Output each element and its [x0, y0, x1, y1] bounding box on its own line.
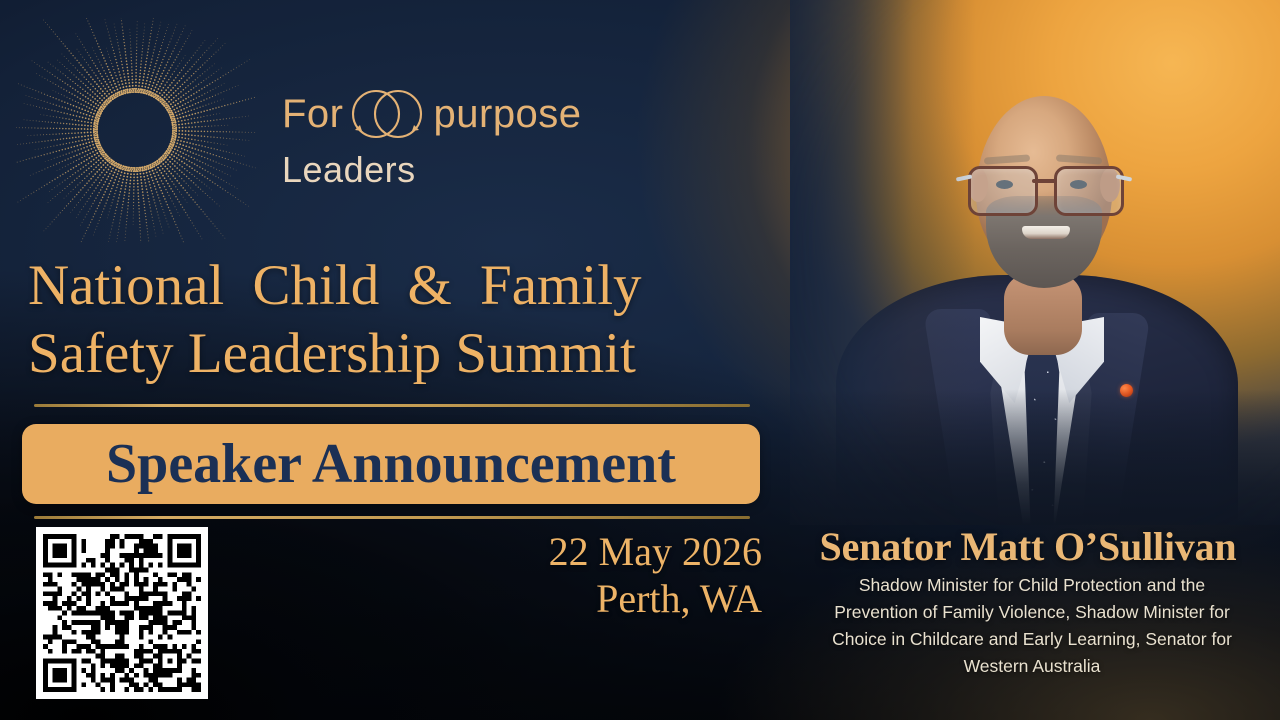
headline-line-2: Safety Leadership Summit — [28, 320, 768, 388]
portrait-eyeglasses — [962, 166, 1128, 212]
eyeglass-lens-left — [968, 166, 1038, 216]
speaker-announcement-poster: For purpose Leaders National Child & Fam… — [0, 0, 1280, 720]
event-location: Perth, WA — [380, 575, 762, 622]
dotted-sunburst-logo — [16, 18, 256, 243]
wordmark-for: For — [282, 94, 344, 134]
divider-rule-top — [34, 404, 750, 407]
speaker-role: Shadow Minister for Child Protection and… — [806, 572, 1258, 681]
wordmark-leaders: Leaders — [282, 149, 582, 191]
speaker-role-line-1: Shadow Minister for Child Protection and… — [806, 572, 1258, 599]
speaker-announcement-banner: Speaker Announcement — [22, 424, 760, 504]
speaker-role-line-3: Choice in Childcare and Early Learning, … — [806, 626, 1258, 653]
divider-rule-bottom — [34, 516, 750, 519]
speaker-role-line-2: Prevention of Family Violence, Shadow Mi… — [806, 599, 1258, 626]
eyeglass-bridge — [1032, 179, 1056, 183]
wordmark-purpose: purpose — [434, 94, 582, 134]
portrait-mouth — [1022, 226, 1070, 239]
speaker-announcement-label: Speaker Announcement — [106, 436, 676, 492]
event-date: 22 May 2026 — [380, 528, 762, 575]
qr-code[interactable] — [36, 527, 208, 699]
event-date-location: 22 May 2026 Perth, WA — [380, 528, 762, 622]
two-overlapping-circles-icon — [346, 85, 428, 143]
headline-line-1: National Child & Family — [28, 252, 768, 320]
eyeglass-lens-right — [1054, 166, 1124, 216]
brand-wordmark: For purpose Leaders — [282, 85, 582, 191]
speaker-role-line-4: Western Australia — [806, 653, 1258, 680]
event-headline: National Child & Family Safety Leadershi… — [28, 252, 768, 388]
speaker-name: Senator Matt O’Sullivan — [780, 523, 1276, 570]
